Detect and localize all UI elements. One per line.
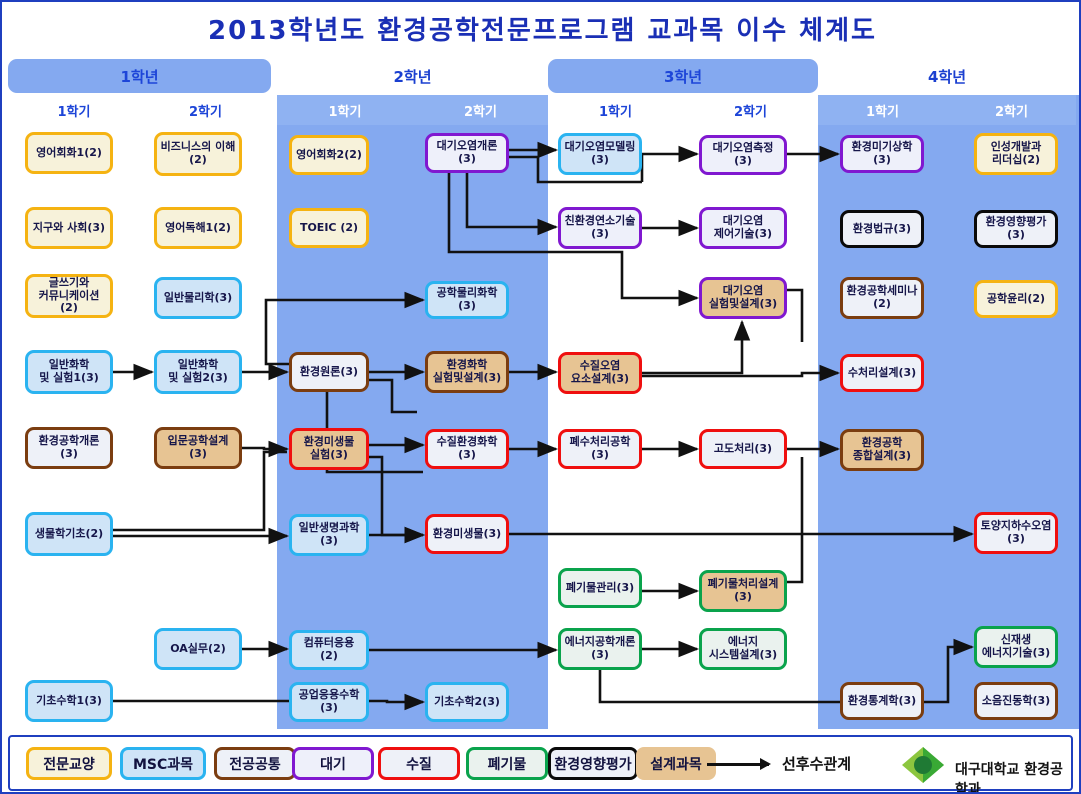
course-box[interactable]: 공학윤리(2): [974, 280, 1058, 318]
course-label: 공학윤리(2): [987, 293, 1045, 306]
prerequisite-edges: [2, 2, 1081, 794]
course-box[interactable]: 환경미기상학(3): [840, 135, 924, 173]
course-label: TOEIC (2): [300, 222, 358, 235]
course-box[interactable]: 기초수학1(3): [25, 680, 113, 722]
course-label: 공학물리화학(3): [431, 287, 503, 312]
legend-item[interactable]: 설계과목: [636, 747, 716, 780]
course-box[interactable]: 고도처리(3): [699, 429, 787, 469]
course-box[interactable]: 폐수처리공학(3): [558, 429, 642, 469]
course-box[interactable]: 수질환경화학(3): [425, 429, 509, 469]
course-box[interactable]: 신재생 에너지기술(3): [974, 626, 1058, 668]
daegu-university-logo-icon: [900, 745, 946, 785]
course-box[interactable]: 환경화학 실험및설계(3): [425, 351, 509, 393]
course-label: 일반화학 및 실험1(3): [39, 359, 99, 384]
course-label: 환경통계학(3): [848, 695, 916, 708]
course-label: 수처리설계(3): [848, 367, 916, 380]
course-box[interactable]: 환경영향평가(3): [974, 210, 1058, 248]
course-label: 에너지공학개론 (3): [565, 636, 636, 661]
course-label: 환경원론(3): [300, 366, 358, 379]
course-label: 고도처리(3): [714, 443, 772, 456]
legend-item-label: 폐기물: [488, 754, 527, 774]
course-box[interactable]: 대기오염모델링 (3): [558, 133, 642, 175]
course-label: 대기오염측정(3): [705, 142, 781, 167]
course-label: 토양지하수오염 (3): [981, 520, 1052, 545]
course-box[interactable]: 환경법규(3): [840, 210, 924, 248]
course-label: 영어독해1(2): [165, 222, 231, 235]
course-box[interactable]: 지구와 사회(3): [25, 207, 113, 249]
legend-item-label: 설계과목: [650, 754, 702, 774]
legend-item[interactable]: 수질: [378, 747, 460, 780]
course-box[interactable]: 환경공학 종합설계(3): [840, 429, 924, 471]
legend-item-label: 수질: [406, 754, 432, 774]
course-box[interactable]: 수질오염 요소설계(3): [558, 352, 642, 394]
course-label: 에너지 시스템설계(3): [709, 636, 777, 661]
course-box[interactable]: 대기오염 실험및설계(3): [699, 277, 787, 319]
course-box[interactable]: OA실무(2): [154, 628, 242, 670]
course-box[interactable]: 일반화학 및 실험2(3): [154, 350, 242, 394]
course-label: 폐기물관리(3): [566, 582, 634, 595]
course-box[interactable]: 폐기물처리설계 (3): [699, 570, 787, 612]
course-label: 일반생명과학(3): [295, 522, 363, 547]
course-label: 환경공학세미나 (2): [847, 285, 918, 310]
course-label: 수질환경화학(3): [431, 436, 503, 461]
legend-item-label: 전공공통: [229, 754, 281, 774]
course-box[interactable]: 공업응용수학(3): [289, 682, 369, 722]
course-box[interactable]: 일반물리학(3): [154, 277, 242, 319]
course-label: 폐기물처리설계 (3): [708, 578, 779, 603]
legend-item[interactable]: 전공공통: [214, 747, 296, 780]
course-box[interactable]: 에너지 시스템설계(3): [699, 628, 787, 670]
course-label: 대기오염 실험및설계(3): [709, 285, 777, 310]
course-box[interactable]: 환경공학개론(3): [25, 427, 113, 469]
course-label: 기초수학1(3): [36, 695, 102, 708]
course-label: 소음진동학(3): [982, 695, 1050, 708]
course-label: 인성개발과 리더십(2): [991, 141, 1042, 166]
legend-item-label: 대기: [320, 754, 346, 774]
legend-item[interactable]: 폐기물: [466, 747, 548, 780]
course-box[interactable]: 일반생명과학(3): [289, 514, 369, 556]
legend: 전문교양MSC과목전공공통대기수질폐기물환경영향평가설계과목 선후수관계 대구대…: [8, 735, 1073, 791]
legend-item[interactable]: 전문교양: [26, 747, 112, 780]
course-label: OA실무(2): [170, 643, 226, 656]
course-label: 기초수학2(3): [434, 696, 500, 709]
course-label: 지구와 사회(3): [33, 222, 105, 235]
relation-arrow-icon: [707, 763, 769, 766]
course-box[interactable]: 환경원론(3): [289, 352, 369, 392]
course-label: 영어회화1(2): [36, 147, 102, 160]
course-label: 환경화학 실험및설계(3): [433, 359, 501, 384]
course-label: 환경법규(3): [853, 223, 911, 236]
course-box[interactable]: 생물학기초(2): [25, 512, 113, 556]
course-box[interactable]: 폐기물관리(3): [558, 568, 642, 608]
course-box[interactable]: 대기오염개론(3): [425, 133, 509, 173]
course-label: 폐수처리공학(3): [564, 436, 636, 461]
course-box[interactable]: 환경미생물 실험(3): [289, 428, 369, 470]
course-box[interactable]: 글쓰기와 커뮤니케이션(2): [25, 274, 113, 318]
legend-item-label: 환경영향평가: [554, 754, 631, 774]
curriculum-flowchart: 2013학년도 환경공학전문프로그램 교과목 이수 체계도 1학년2학년3학년4…: [0, 0, 1081, 794]
course-box[interactable]: 영어회화2(2): [289, 135, 369, 175]
course-box[interactable]: 환경공학세미나 (2): [840, 277, 924, 319]
course-label: 환경공학 종합설계(3): [853, 437, 911, 462]
course-box[interactable]: 비즈니스의 이해 (2): [154, 132, 242, 176]
course-label: 비즈니스의 이해 (2): [161, 141, 236, 166]
course-box[interactable]: 컴퓨터응용(2): [289, 630, 369, 670]
course-box[interactable]: 영어독해1(2): [154, 207, 242, 249]
course-box[interactable]: 일반화학 및 실험1(3): [25, 350, 113, 394]
course-label: 환경공학개론(3): [31, 435, 107, 460]
legend-item[interactable]: MSC과목: [120, 747, 206, 780]
course-label: 친환경연소기술 (3): [565, 215, 636, 240]
course-label: 입문공학설계(3): [160, 435, 236, 460]
legend-item-label: MSC과목: [133, 754, 193, 774]
course-box[interactable]: 기초수학2(3): [425, 682, 509, 722]
course-label: 환경영향평가(3): [980, 216, 1052, 241]
course-box[interactable]: 대기오염 제어기술(3): [699, 207, 787, 249]
course-label: 생물학기초(2): [35, 528, 103, 541]
course-label: 환경미기상학(3): [846, 141, 918, 166]
course-box[interactable]: 에너지공학개론 (3): [558, 628, 642, 670]
course-box[interactable]: 대기오염측정(3): [699, 135, 787, 175]
course-label: 컴퓨터응용(2): [295, 637, 363, 662]
course-label: 일반물리학(3): [164, 292, 232, 305]
course-label: 환경미생물 실험(3): [304, 436, 355, 461]
course-box[interactable]: 공학물리화학(3): [425, 281, 509, 319]
course-label: 신재생 에너지기술(3): [982, 634, 1050, 659]
course-label: 글쓰기와 커뮤니케이션(2): [31, 277, 107, 315]
course-box[interactable]: 토양지하수오염 (3): [974, 512, 1058, 554]
course-label: 대기오염 제어기술(3): [714, 215, 772, 240]
course-box[interactable]: 인성개발과 리더십(2): [974, 133, 1058, 175]
course-box[interactable]: 친환경연소기술 (3): [558, 207, 642, 249]
legend-item-label: 전문교양: [43, 754, 95, 774]
course-box[interactable]: 환경통계학(3): [840, 682, 924, 720]
course-box[interactable]: 환경미생물(3): [425, 514, 509, 554]
course-box[interactable]: 영어회화1(2): [25, 132, 113, 174]
course-label: 수질오염 요소설계(3): [571, 360, 629, 385]
course-box[interactable]: 소음진동학(3): [974, 682, 1058, 720]
legend-item[interactable]: 환경영향평가: [548, 747, 638, 780]
course-label: 공업응용수학(3): [295, 689, 363, 714]
course-label: 대기오염모델링 (3): [565, 141, 636, 166]
course-label: 일반화학 및 실험2(3): [168, 359, 228, 384]
course-box[interactable]: 수처리설계(3): [840, 354, 924, 392]
course-label: 환경미생물(3): [433, 528, 501, 541]
course-label: 대기오염개론(3): [431, 140, 503, 165]
legend-item[interactable]: 대기: [292, 747, 374, 780]
legend-relation-label: 선후수관계: [782, 753, 851, 774]
course-box[interactable]: TOEIC (2): [289, 208, 369, 248]
course-box[interactable]: 입문공학설계(3): [154, 427, 242, 469]
course-label: 영어회화2(2): [296, 149, 362, 162]
university-label: 대구대학교 환경공학과: [955, 759, 1071, 794]
